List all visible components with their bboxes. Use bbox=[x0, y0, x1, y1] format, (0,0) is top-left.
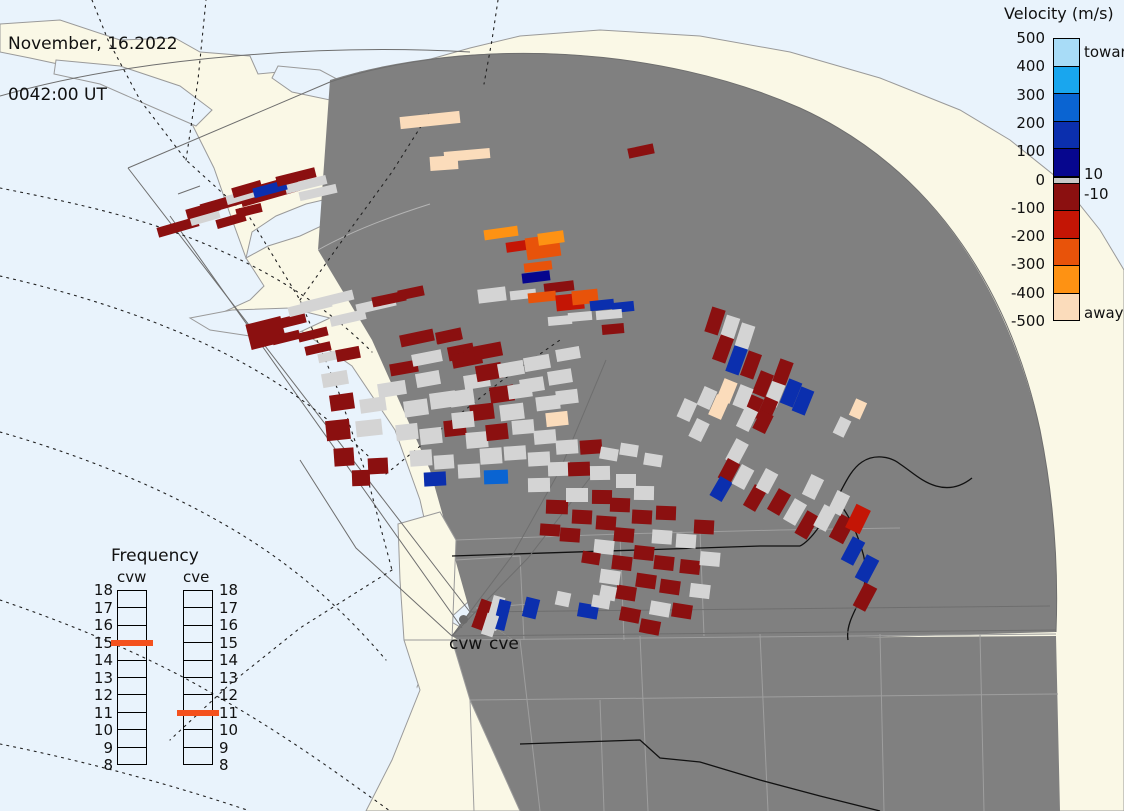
frequency-cell bbox=[184, 591, 212, 608]
colorbar-title: Velocity (m/s) bbox=[1004, 4, 1114, 23]
velocity-cell bbox=[653, 555, 674, 571]
velocity-cell bbox=[656, 506, 676, 521]
frequency-tick-cve-11: 11 bbox=[219, 704, 241, 722]
frequency-cell bbox=[118, 591, 146, 608]
velocity-cell bbox=[634, 486, 654, 500]
velocity-cell bbox=[568, 462, 590, 477]
colorbar-band--50 bbox=[1054, 184, 1079, 212]
colorbar-tick--300: -300 bbox=[1011, 255, 1045, 273]
velocity-cell bbox=[528, 451, 551, 466]
frequency-cell bbox=[184, 608, 212, 625]
colorbar-band-zero bbox=[1054, 177, 1079, 184]
frequency-marker-cvw bbox=[111, 640, 153, 646]
radar-velocity-map: November, 16.2022 0042:00 UT Velocity (m… bbox=[0, 0, 1124, 811]
velocity-cell bbox=[689, 583, 711, 599]
frequency-marker-cve bbox=[177, 710, 219, 716]
frequency-cell bbox=[118, 748, 146, 764]
velocity-cell bbox=[329, 392, 355, 411]
colorbar-tick-500: 500 bbox=[1016, 29, 1045, 47]
velocity-cell bbox=[546, 500, 568, 515]
colorbar-band-50 bbox=[1054, 149, 1079, 177]
frequency-tick-cvw-17: 17 bbox=[91, 599, 113, 617]
frequency-tick-cvw-13: 13 bbox=[91, 669, 113, 687]
velocity-cell bbox=[632, 509, 653, 524]
frequency-tick-cve-18: 18 bbox=[219, 581, 241, 599]
velocity-cell bbox=[580, 439, 603, 455]
velocity-cell bbox=[545, 411, 568, 427]
velocity-cell bbox=[659, 579, 681, 596]
velocity-cell bbox=[325, 419, 351, 441]
frequency-bar-cve[interactable] bbox=[183, 590, 213, 765]
frequency-tick-cve-15: 15 bbox=[219, 634, 241, 652]
velocity-cell bbox=[424, 471, 447, 486]
frequency-cell bbox=[184, 626, 212, 643]
land-oregon-coast bbox=[398, 512, 456, 640]
velocity-cell bbox=[511, 419, 534, 435]
frequency-cell bbox=[118, 678, 146, 695]
velocity-cell bbox=[504, 445, 527, 461]
velocity-cell bbox=[449, 388, 475, 407]
frequency-column-header-cvw: cvw bbox=[117, 568, 146, 586]
frequency-tick-cve-14: 14 bbox=[219, 651, 241, 669]
frequency-cell bbox=[184, 730, 212, 747]
colorbar-away-label: away bbox=[1084, 304, 1124, 322]
frequency-tick-cvw-8: 8 bbox=[91, 756, 113, 774]
velocity-cell bbox=[610, 498, 630, 513]
velocity-cell bbox=[355, 419, 383, 438]
frequency-cell bbox=[118, 713, 146, 730]
colorbar-tick-0: 0 bbox=[1035, 171, 1045, 189]
colorbar-tick-300: 300 bbox=[1016, 86, 1045, 104]
velocity-cell bbox=[485, 423, 509, 441]
frequency-tick-cvw-11: 11 bbox=[91, 704, 113, 722]
velocity-cell bbox=[430, 155, 459, 171]
velocity-cell bbox=[572, 509, 593, 524]
velocity-cell bbox=[533, 429, 556, 445]
velocity-cell bbox=[395, 423, 419, 441]
frequency-cell bbox=[118, 661, 146, 678]
velocity-cell bbox=[352, 470, 371, 487]
frequency-title: Frequency bbox=[111, 546, 199, 566]
velocity-cell bbox=[593, 539, 614, 555]
velocity-cell bbox=[528, 478, 550, 492]
colorbar-zero-lower-label: -10 bbox=[1084, 185, 1109, 203]
velocity-cell bbox=[560, 527, 581, 542]
frequency-cell bbox=[118, 695, 146, 712]
velocity-cell bbox=[540, 523, 561, 536]
timestamp-title: November, 16.2022 0042:00 UT bbox=[8, 2, 178, 138]
colorbar-band--150 bbox=[1054, 211, 1079, 239]
velocity-cell bbox=[403, 398, 429, 417]
velocity-cell bbox=[409, 449, 432, 466]
frequency-cell bbox=[184, 678, 212, 695]
station-label-cvw: cvw bbox=[449, 634, 482, 654]
velocity-cell bbox=[599, 569, 621, 586]
colorbar-tick-100: 100 bbox=[1016, 142, 1045, 160]
colorbar-band--450 bbox=[1054, 294, 1079, 321]
radar-station-dot bbox=[459, 615, 468, 624]
velocity-cell bbox=[676, 533, 697, 548]
velocity-cell bbox=[555, 389, 579, 406]
velocity-cell bbox=[566, 488, 588, 502]
velocity-cell bbox=[368, 457, 389, 474]
colorbar-zero-upper-label: 10 bbox=[1084, 165, 1103, 183]
velocity-cell bbox=[616, 474, 636, 488]
velocity-cell bbox=[652, 529, 673, 544]
frequency-cell bbox=[184, 643, 212, 660]
velocity-cell bbox=[599, 585, 617, 602]
frequency-tick-cvw-15: 15 bbox=[91, 634, 113, 652]
velocity-cell bbox=[633, 545, 654, 561]
colorbar-tick--100: -100 bbox=[1011, 199, 1045, 217]
colorbar-band--350 bbox=[1054, 266, 1079, 294]
colorbar-tick-400: 400 bbox=[1016, 57, 1045, 75]
velocity-cell bbox=[499, 403, 525, 422]
velocity-cell bbox=[596, 515, 617, 530]
velocity-cell bbox=[451, 411, 475, 429]
colorbar-tick--200: -200 bbox=[1011, 227, 1045, 245]
colorbar-tick-200: 200 bbox=[1016, 114, 1045, 132]
velocity-cell bbox=[333, 447, 354, 466]
velocity-cell bbox=[484, 470, 508, 485]
frequency-bar-cvw[interactable] bbox=[117, 590, 147, 765]
velocity-cell bbox=[635, 573, 657, 590]
velocity-cell bbox=[458, 463, 481, 478]
velocity-cell bbox=[465, 431, 488, 449]
velocity-cell bbox=[602, 323, 625, 335]
velocity-cell bbox=[555, 591, 572, 608]
velocity-cell bbox=[434, 454, 455, 469]
colorbar-band-350 bbox=[1054, 67, 1079, 95]
title-date: November, 16.2022 bbox=[8, 36, 178, 53]
frequency-tick-cvw-14: 14 bbox=[91, 651, 113, 669]
title-time: 0042:00 UT bbox=[8, 87, 178, 104]
frequency-tick-cve-12: 12 bbox=[219, 686, 241, 704]
frequency-cell bbox=[184, 661, 212, 678]
frequency-legend: Frequency cvw cve 18171615141312111098 1… bbox=[95, 546, 255, 786]
frequency-tick-cve-17: 17 bbox=[219, 599, 241, 617]
velocity-colorbar: Velocity (m/s) 5004003002001000-100-200-… bbox=[1004, 2, 1124, 332]
frequency-cell bbox=[118, 730, 146, 747]
velocity-cell bbox=[556, 439, 579, 455]
frequency-tick-cvw-18: 18 bbox=[91, 581, 113, 599]
frequency-tick-cve-13: 13 bbox=[219, 669, 241, 687]
frequency-cell bbox=[118, 643, 146, 660]
frequency-tick-cvw-10: 10 bbox=[91, 721, 113, 739]
frequency-tick-cvw-9: 9 bbox=[91, 739, 113, 757]
frequency-tick-cve-8: 8 bbox=[219, 756, 241, 774]
frequency-tick-cvw-16: 16 bbox=[91, 616, 113, 634]
colorbar-band-150 bbox=[1054, 122, 1079, 150]
frequency-tick-cve-16: 16 bbox=[219, 616, 241, 634]
frequency-cell bbox=[118, 608, 146, 625]
frequency-tick-cve-9: 9 bbox=[219, 739, 241, 757]
station-label-cve: cve bbox=[489, 634, 519, 654]
frequency-cell bbox=[184, 748, 212, 764]
velocity-cell bbox=[479, 447, 502, 464]
frequency-tick-cve-10: 10 bbox=[219, 721, 241, 739]
velocity-cell bbox=[699, 551, 720, 567]
colorbar-tick--500: -500 bbox=[1011, 312, 1045, 330]
colorbar-band-450 bbox=[1054, 39, 1079, 67]
velocity-cell bbox=[613, 527, 634, 543]
colorbar-ticks: 5004003002001000-100-200-300-400-500 bbox=[1004, 38, 1049, 321]
frequency-column-header-cve: cve bbox=[183, 568, 209, 586]
velocity-cell bbox=[590, 466, 610, 480]
velocity-cell bbox=[592, 490, 612, 504]
velocity-cell bbox=[548, 462, 570, 477]
velocity-cell bbox=[694, 519, 715, 534]
colorbar-toward-label: toward bbox=[1084, 43, 1124, 61]
velocity-cell bbox=[679, 559, 700, 575]
colorbar-tick--400: -400 bbox=[1011, 284, 1045, 302]
velocity-cell bbox=[419, 427, 443, 445]
colorbar-strip bbox=[1053, 38, 1080, 321]
coast-ocean-north bbox=[330, 500, 404, 640]
colorbar-band-250 bbox=[1054, 94, 1079, 122]
velocity-cell bbox=[611, 555, 633, 571]
colorbar-band--250 bbox=[1054, 239, 1079, 267]
frequency-tick-cvw-12: 12 bbox=[91, 686, 113, 704]
